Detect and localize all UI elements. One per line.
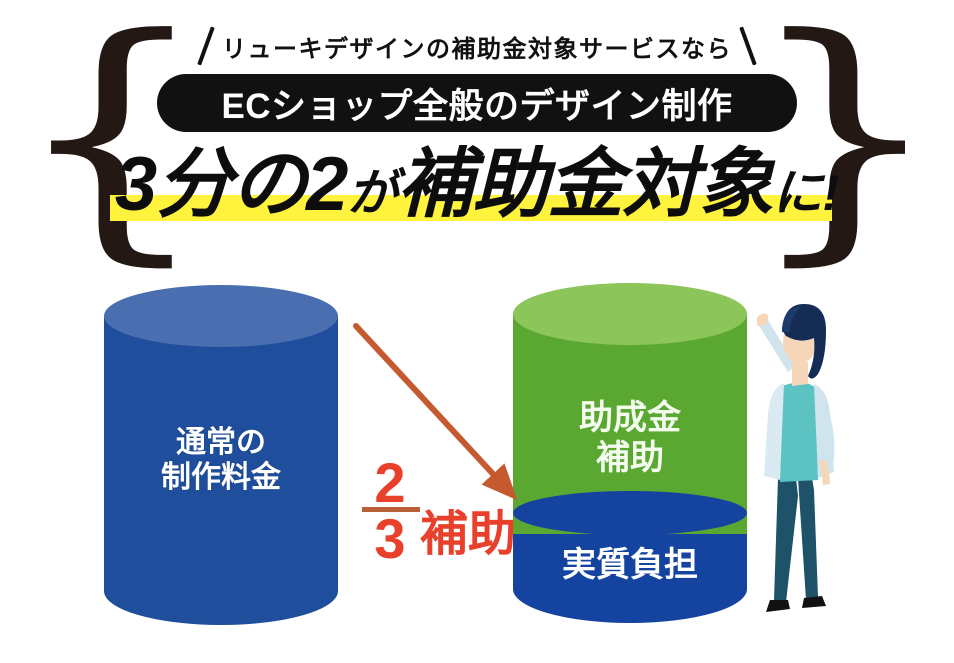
diagonal-slash-right-icon [739, 27, 756, 66]
cylinder-subsidized-top [513, 283, 747, 345]
woman-reaching-illustration-icon [752, 300, 872, 630]
fraction-numerator: 2 [362, 455, 418, 511]
cylinder-normal-price-top [104, 285, 338, 347]
headline-suffix-text: に! [772, 150, 839, 236]
service-banner-label: ECショップ全般のデザイン制作 [221, 78, 732, 129]
kicker-text: リューキデザインの補助金対象サービスなら [222, 29, 732, 64]
cylinder-section-divider [513, 491, 747, 535]
headline-text-row: 3分の2 が 補助金対象 に! [0, 142, 954, 228]
fraction-label: 補助 [420, 511, 516, 559]
service-banner: ECショップ全般のデザイン制作 [157, 74, 797, 132]
diagonal-slash-left-icon [197, 27, 214, 66]
fraction-annotation: 2 3 補助 [362, 455, 512, 575]
headline-fraction-text: 3分の2 [115, 142, 348, 228]
headline-subject-text: 補助金対象 [397, 142, 772, 228]
infographic-canvas: { } リューキデザインの補助金対象サービスなら ECショップ全般のデザイン制作… [0, 0, 954, 663]
kicker-row: リューキデザインの補助金対象サービスなら [0, 25, 954, 67]
fraction-denominator: 3 [362, 511, 418, 567]
headline: 3分の2 が 補助金対象 に! [0, 142, 954, 228]
cylinder-normal-price-body [104, 316, 338, 625]
headline-particle-ga: が [347, 150, 397, 236]
cylinder-normal-price: 通常の 制作料金 [104, 285, 338, 625]
cylinder-subsidized-price: 助成金 補助 実質負担 [513, 283, 747, 623]
